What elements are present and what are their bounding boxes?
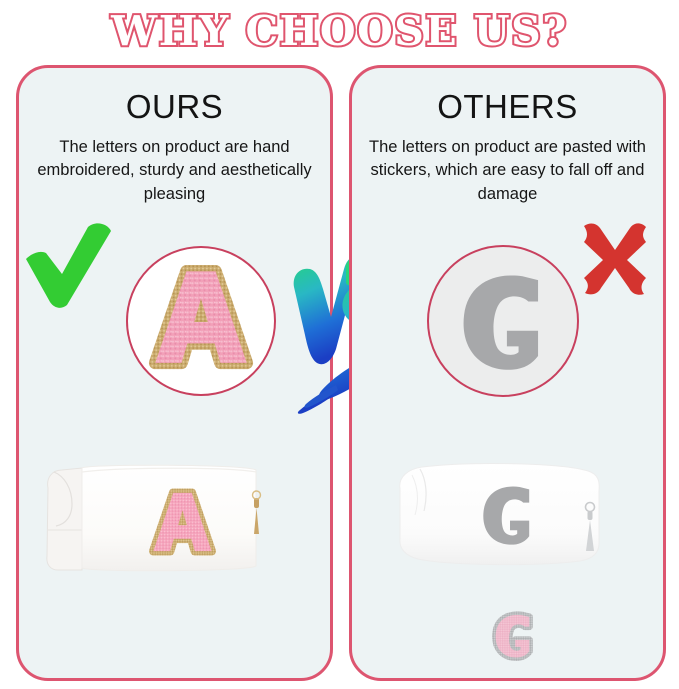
panel-others-description: The letters on product are pasted with s… <box>368 136 647 206</box>
check-icon <box>22 222 114 308</box>
panel-others-heading: OTHERS <box>352 88 663 126</box>
panel-ours-heading: OURS <box>19 88 330 126</box>
page-title: WHY CHOOSE US? <box>111 11 568 52</box>
cosmetic-bag-others <box>392 455 624 575</box>
cosmetic-bag-ours <box>32 448 304 578</box>
fallen-chenille-patch-c <box>474 598 552 670</box>
grey-sticker-letter-c <box>429 247 577 395</box>
chenille-letter-a-patch <box>128 248 274 394</box>
patch-circle-c <box>427 245 579 397</box>
cross-icon <box>578 220 652 296</box>
page-header: WHY CHOOSE US? <box>0 0 679 62</box>
panel-ours-description: The letters on product are hand embroide… <box>35 136 314 206</box>
patch-circle-a <box>126 246 276 396</box>
